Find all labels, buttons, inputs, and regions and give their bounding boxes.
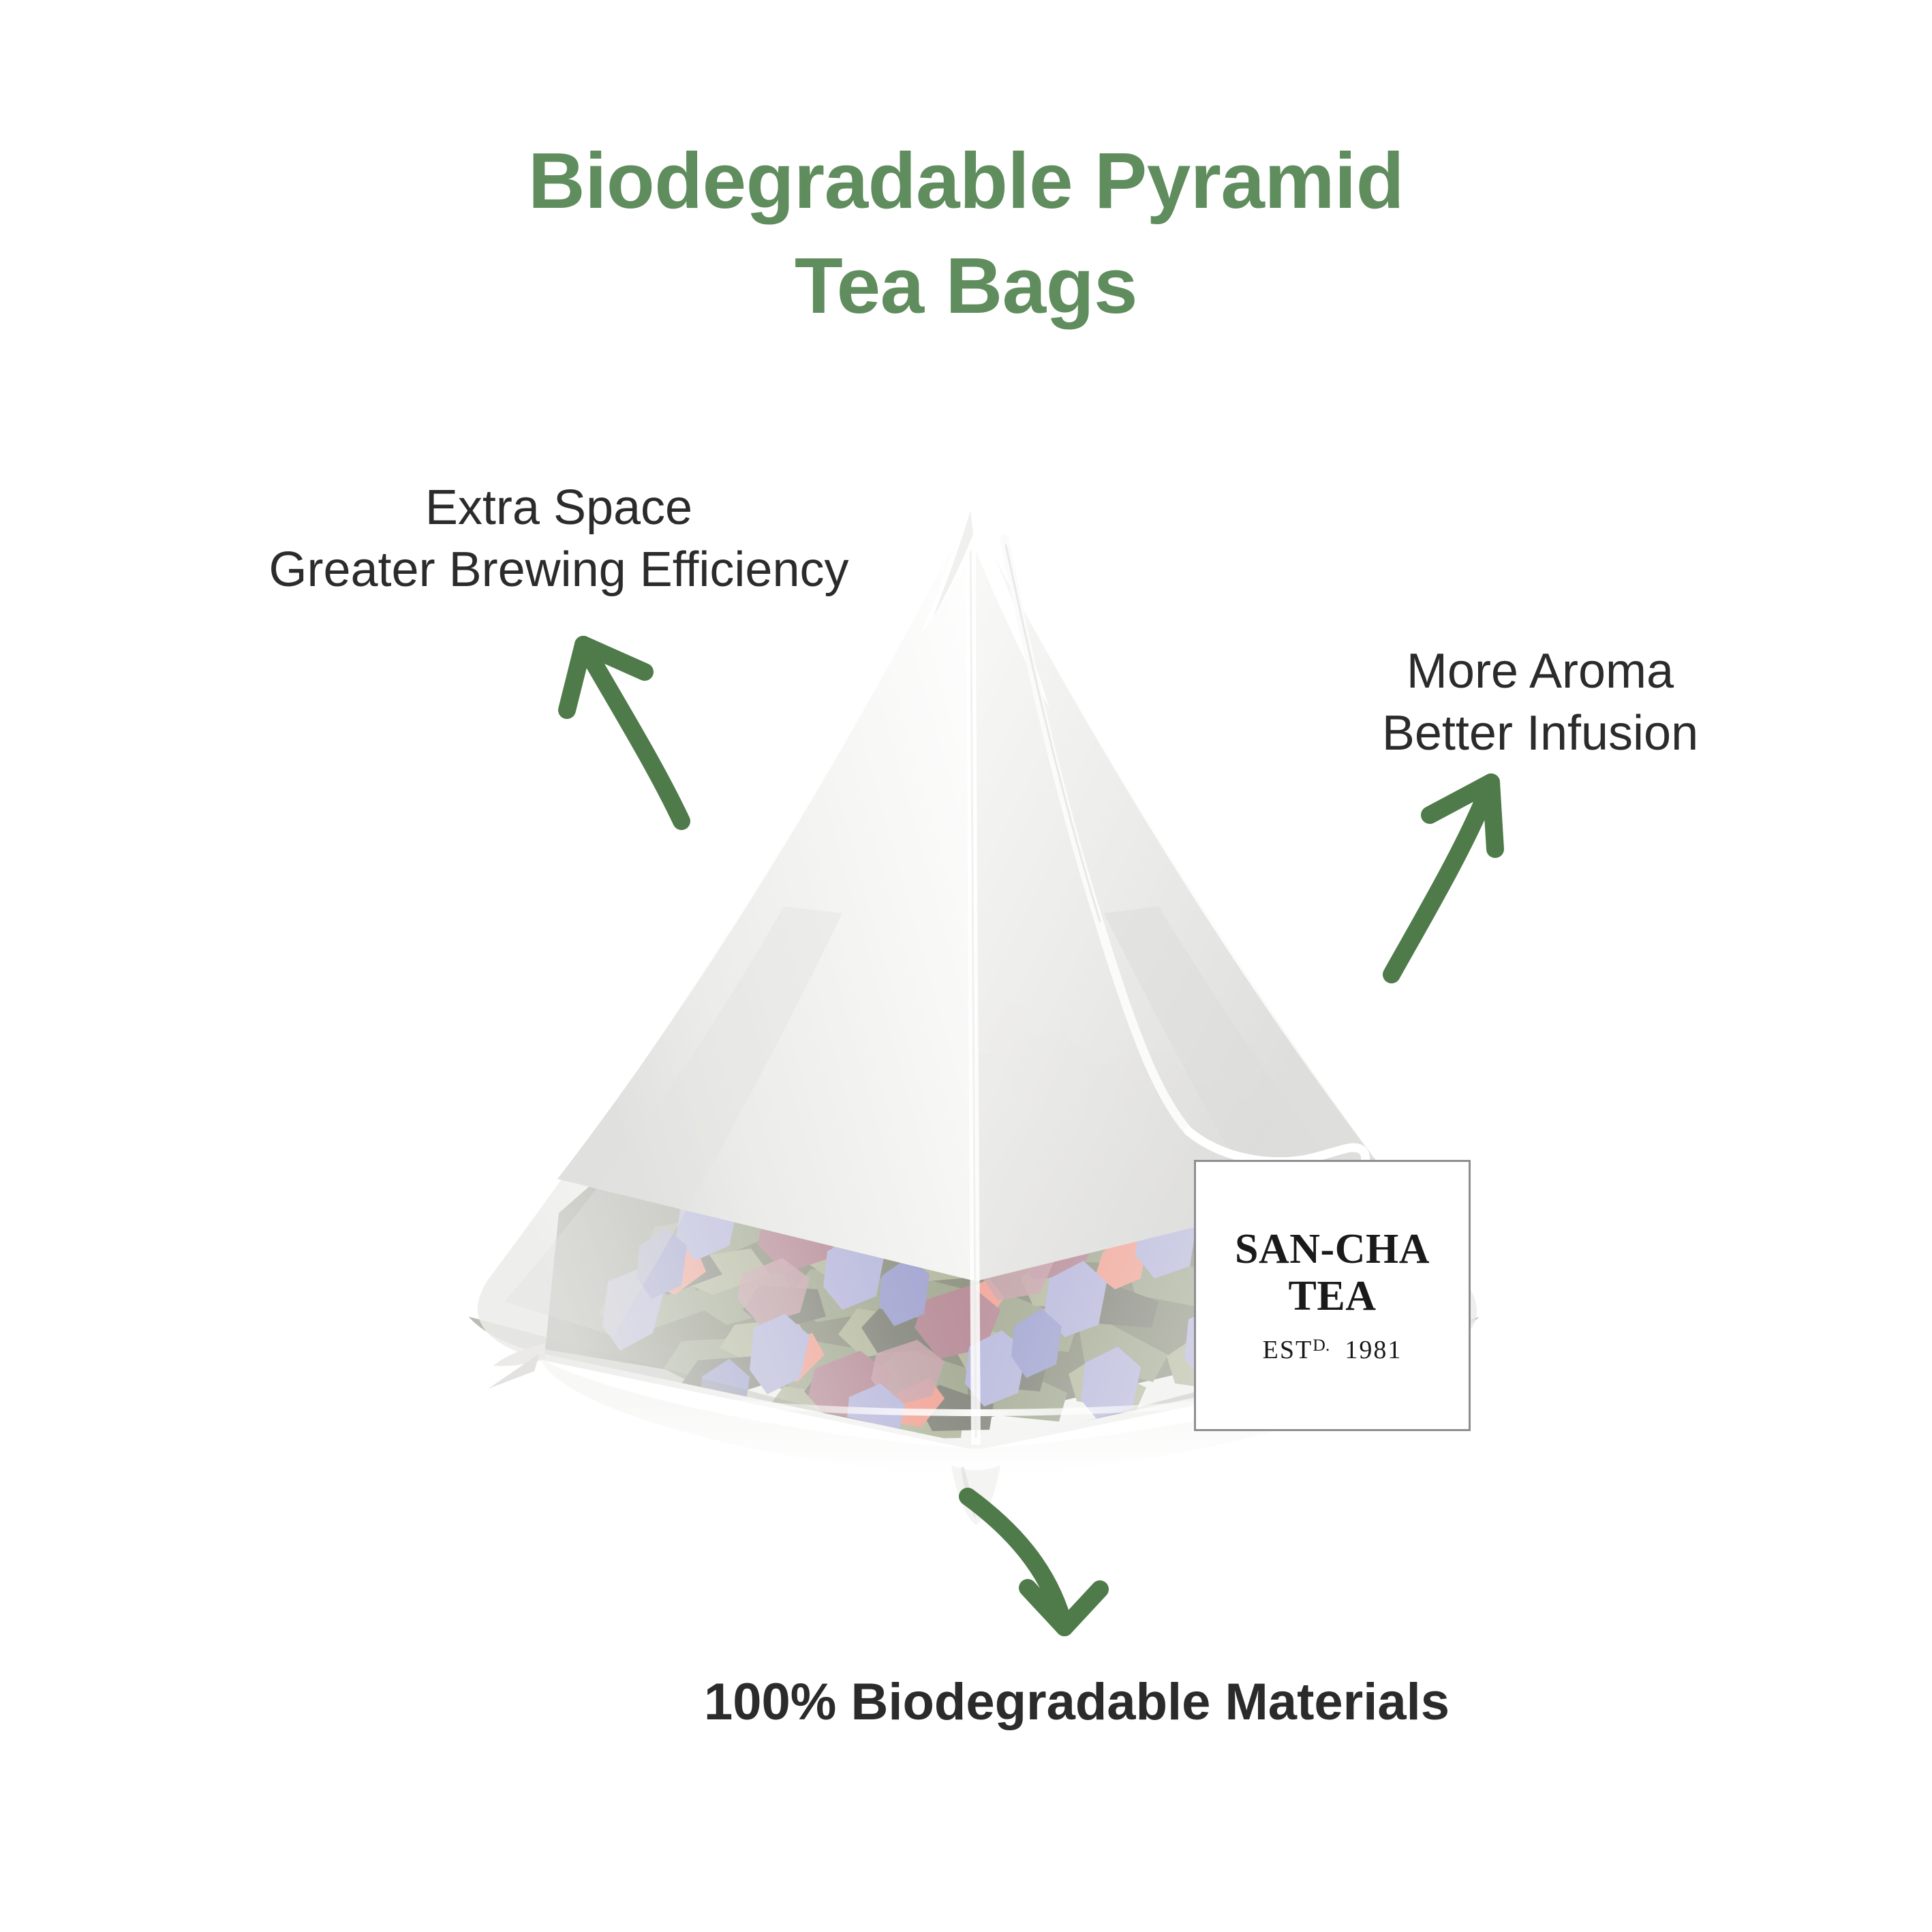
brand-tag-established: ESTD.1981 bbox=[1263, 1335, 1402, 1365]
callout-extra-space: Extra Space Greater Brewing Efficiency bbox=[208, 477, 910, 600]
brand-tag-name: SAN-CHA TEA bbox=[1235, 1226, 1430, 1321]
brand-tag-name-line-2: TEA bbox=[1235, 1273, 1430, 1320]
infographic-canvas: Biodegradable Pyramid Tea Bags bbox=[0, 0, 1932, 1932]
curved-arrow-down-icon bbox=[968, 1497, 1100, 1627]
callout-biodegradable-materials: 100% Biodegradable Materials bbox=[477, 1670, 1676, 1735]
brand-tag-name-line-1: SAN-CHA bbox=[1235, 1226, 1430, 1273]
tea-bag-illustration bbox=[0, 0, 1932, 1932]
brand-tag-estd-superscript: D. bbox=[1313, 1336, 1330, 1355]
brand-tag-estd-prefix: EST bbox=[1263, 1336, 1313, 1364]
brand-tag-estd-year: 1981 bbox=[1345, 1336, 1402, 1364]
callout-left-line-1: Extra Space bbox=[208, 477, 910, 539]
curved-arrow-up-right-icon bbox=[1392, 782, 1495, 975]
callout-left-line-2: Greater Brewing Efficiency bbox=[208, 539, 910, 601]
callout-right-line-2: Better Infusion bbox=[1336, 703, 1745, 765]
callout-bottom-line-1: 100% Biodegradable Materials bbox=[477, 1670, 1676, 1735]
callout-right-line-1: More Aroma bbox=[1336, 641, 1745, 703]
curved-arrow-up-left-icon bbox=[567, 645, 681, 821]
callout-more-aroma: More Aroma Better Infusion bbox=[1336, 641, 1745, 764]
brand-tag: SAN-CHA TEA ESTD.1981 bbox=[1194, 1160, 1471, 1431]
